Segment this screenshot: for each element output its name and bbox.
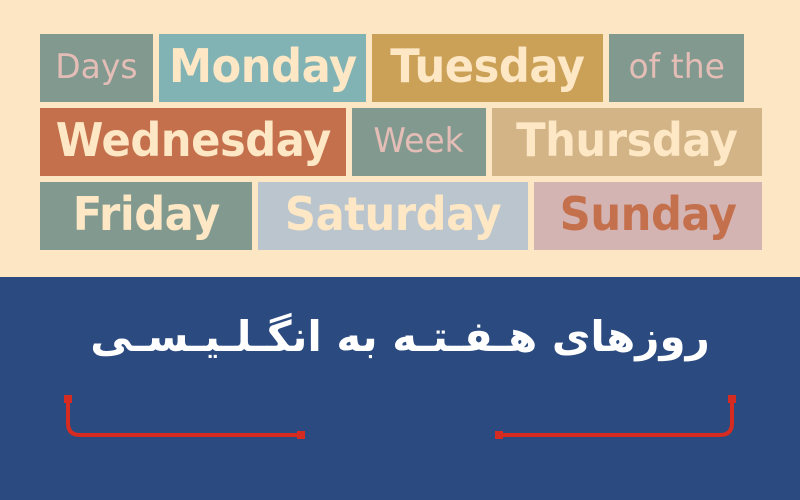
- word-chip-thursday: Thursday: [492, 108, 762, 176]
- bracket-dot-inner-right: [495, 431, 503, 439]
- word-chip-of-the: of the: [609, 34, 744, 102]
- word-chip-label: Wednesday: [55, 117, 330, 163]
- word-chip-label: Saturday: [285, 191, 501, 237]
- word-chip-days: Days: [40, 34, 153, 102]
- bracket-left-path: [68, 397, 300, 435]
- bracket-right-path: [500, 397, 732, 435]
- word-chip-label: of the: [628, 50, 724, 84]
- word-chip-label: Sunday: [560, 191, 737, 237]
- word-chip-grid: DaysMondayTuesdayof theWednesdayWeekThur…: [40, 34, 768, 250]
- word-chip-row: FridaySaturdaySunday: [40, 182, 768, 250]
- poster-canvas: DaysMondayTuesdayof theWednesdayWeekThur…: [0, 0, 800, 500]
- bracket-dot-inner-left: [297, 431, 305, 439]
- word-chip-saturday: Saturday: [258, 182, 528, 250]
- word-chip-tuesday: Tuesday: [372, 34, 603, 102]
- red-bracket-decoration: [62, 395, 738, 441]
- title-banner: روزهای هـفـتـه به انگـلـیـسـی MELAL LANG…: [0, 277, 800, 500]
- word-chip-label: Friday: [72, 191, 219, 237]
- bracket-dot-top-left: [64, 395, 72, 403]
- word-chip-label: Thursday: [516, 117, 737, 163]
- word-chip-label: Tuesday: [390, 43, 584, 89]
- bracket-dot-top-right: [728, 395, 736, 403]
- word-chip-friday: Friday: [40, 182, 252, 250]
- persian-headline: روزهای هـفـتـه به انگـلـیـسـی: [0, 313, 800, 361]
- word-chip-week: Week: [352, 108, 486, 176]
- word-chip-row: DaysMondayTuesdayof the: [40, 34, 768, 102]
- word-chip-monday: Monday: [159, 34, 366, 102]
- word-chip-wednesday: Wednesday: [40, 108, 346, 176]
- word-chip-label: Days: [55, 50, 137, 84]
- word-chip-label: Monday: [169, 43, 357, 89]
- english-words-panel: DaysMondayTuesdayof theWednesdayWeekThur…: [0, 0, 800, 277]
- word-chip-sunday: Sunday: [534, 182, 762, 250]
- word-chip-row: WednesdayWeekThursday: [40, 108, 768, 176]
- word-chip-label: Week: [374, 124, 464, 158]
